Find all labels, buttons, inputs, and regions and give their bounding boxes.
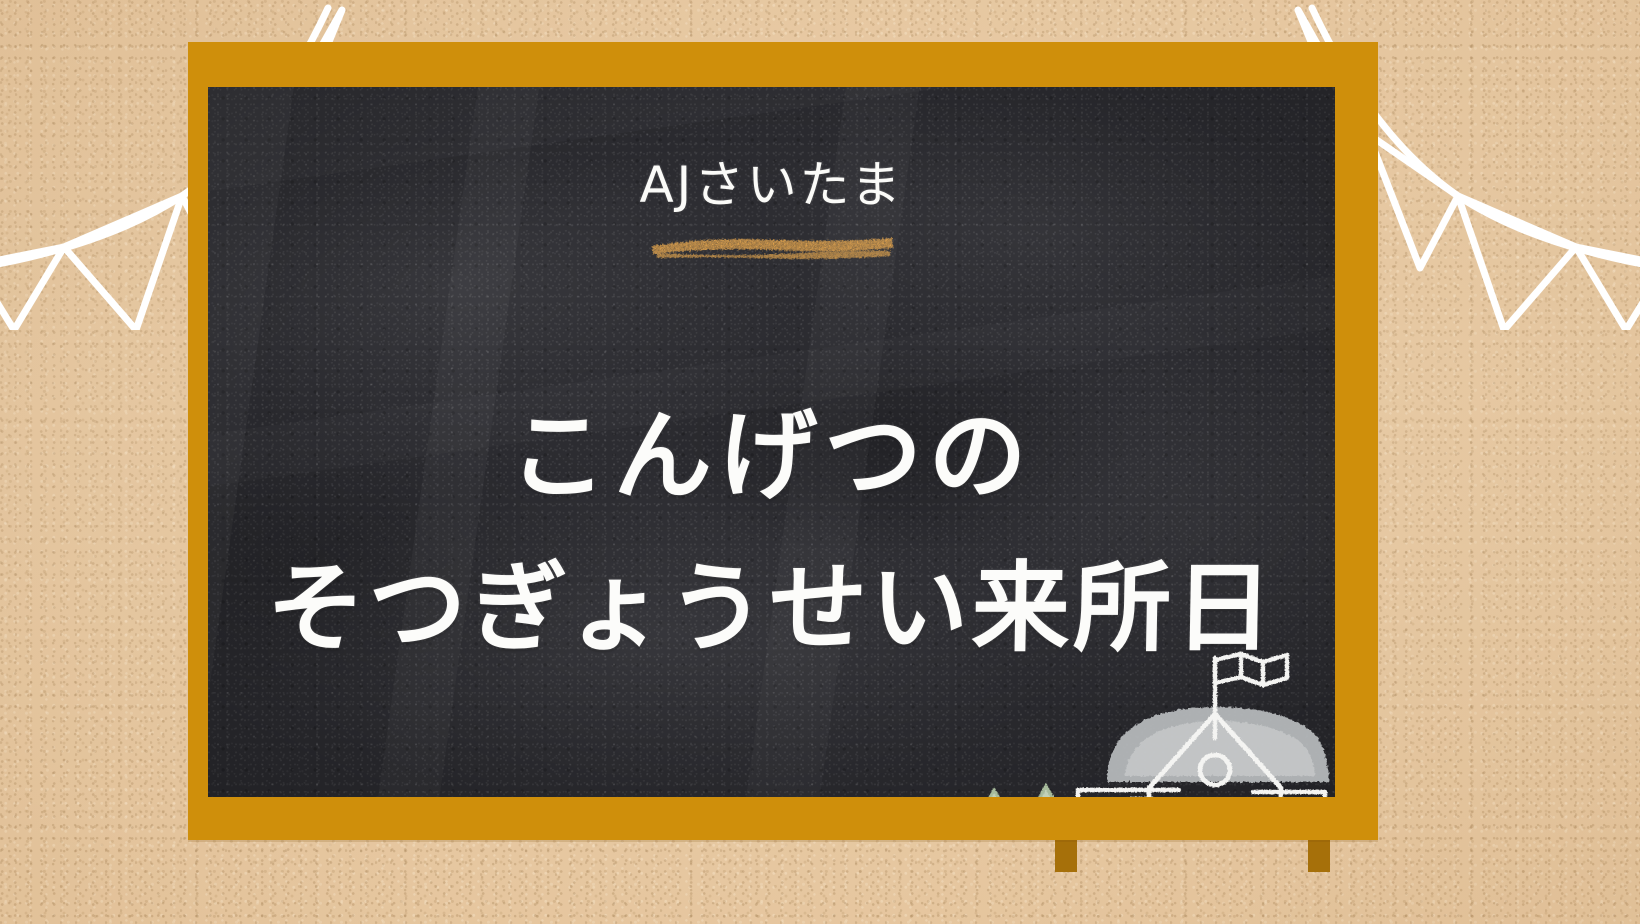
orange-chalk-underline-icon bbox=[645, 229, 897, 261]
headline-line-1: こんげつの bbox=[208, 377, 1335, 519]
chalkboard-content: AJさいたま bbox=[208, 87, 1335, 797]
chalkboard-frame: AJさいたま bbox=[188, 42, 1378, 840]
chalkboard-surface: AJさいたま bbox=[208, 87, 1335, 797]
poster-canvas: AJさいたま bbox=[0, 0, 1640, 924]
organization-title: AJさいたま bbox=[208, 145, 1335, 217]
headline-line-2: そつぎょうせい来所日 bbox=[208, 529, 1335, 671]
chalk-sticks-illustration bbox=[238, 787, 428, 797]
